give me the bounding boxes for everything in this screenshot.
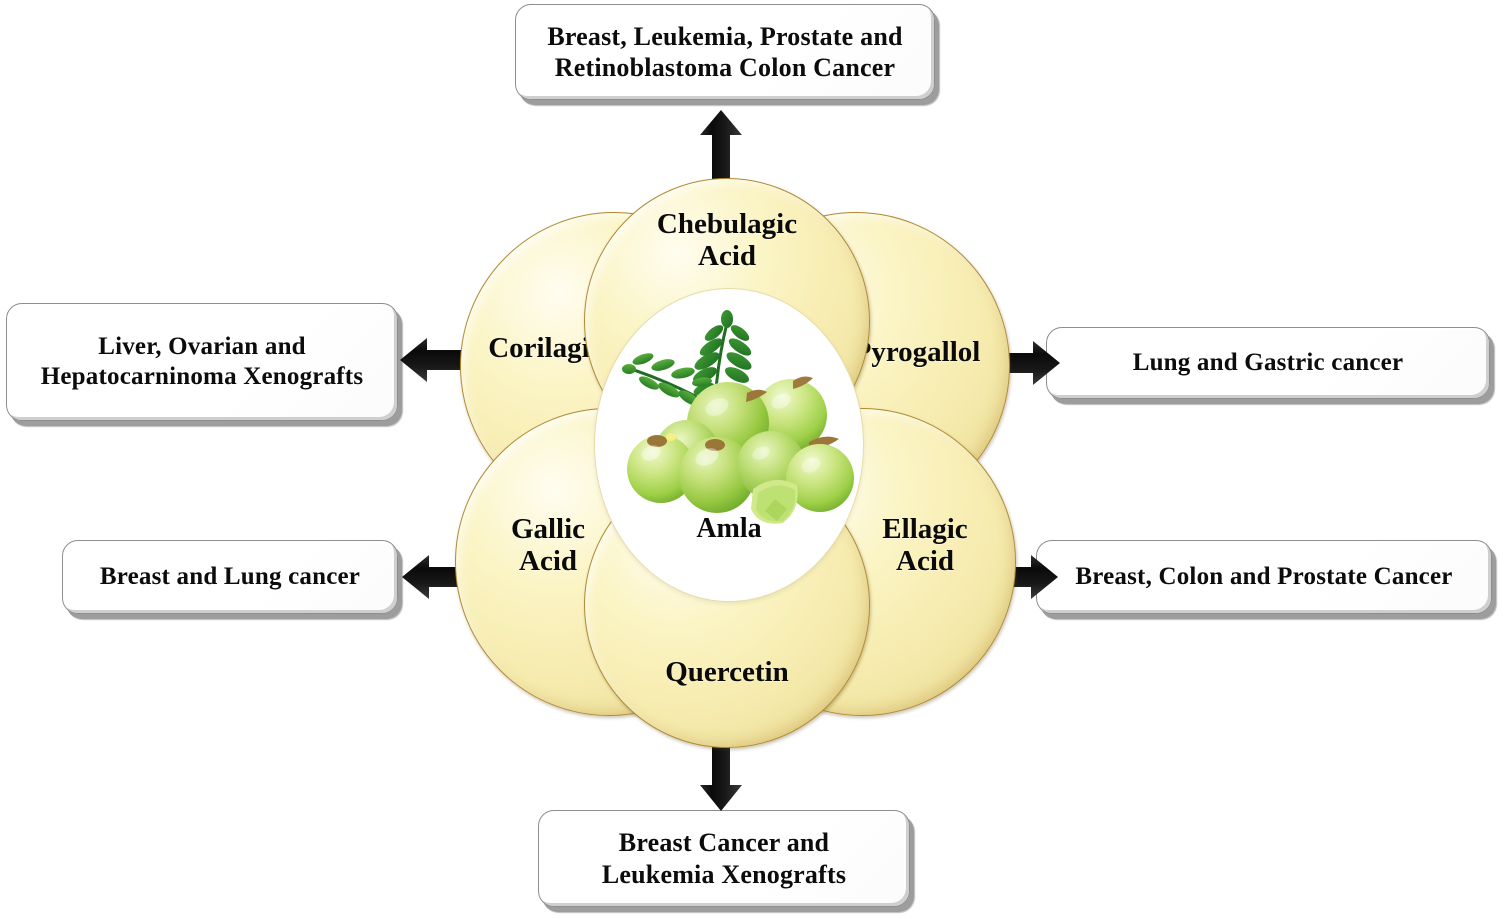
petal-chebulagic-acid-label: Chebulagic Acid	[585, 209, 869, 273]
petal-ellagic-acid-label: Ellagic Acid	[845, 514, 1005, 578]
outcome-box-left-upper-label: Liver, Ovarian and Hepatocarninoma Xenog…	[41, 332, 364, 392]
outcome-box-right-upper-label: Lung and Gastric cancer	[1133, 348, 1404, 378]
outcome-box-top[interactable]: Breast, Leukemia, Prostate and Retinobla…	[515, 4, 935, 100]
outcome-box-left-upper[interactable]: Liver, Ovarian and Hepatocarninoma Xenog…	[6, 303, 398, 421]
outcome-box-left-lower[interactable]: Breast and Lung cancer	[62, 540, 398, 614]
outcome-box-top-label: Breast, Leukemia, Prostate and Retinobla…	[547, 21, 902, 83]
outcome-box-bottom-label: Breast Cancer and Leukemia Xenografts	[602, 827, 846, 889]
arrow-up-top	[700, 110, 742, 184]
center-label: Amla	[595, 513, 863, 545]
petal-quercetin-label: Quercetin	[585, 657, 869, 689]
outcome-box-left-lower-label: Breast and Lung cancer	[100, 562, 360, 592]
outcome-box-right-lower[interactable]: Breast, Colon and Prostate Cancer	[1036, 540, 1492, 614]
center-oval: Amla	[594, 288, 864, 602]
outcome-box-bottom[interactable]: Breast Cancer and Leukemia Xenografts	[538, 810, 910, 907]
outcome-box-right-upper[interactable]: Lung and Gastric cancer	[1046, 327, 1490, 399]
outcome-box-right-lower-label: Breast, Colon and Prostate Cancer	[1075, 562, 1452, 592]
diagram-canvas: Breast, Leukemia, Prostate and Retinobla…	[0, 0, 1505, 919]
amla-gooseberry-fruit-illustration	[595, 289, 863, 601]
